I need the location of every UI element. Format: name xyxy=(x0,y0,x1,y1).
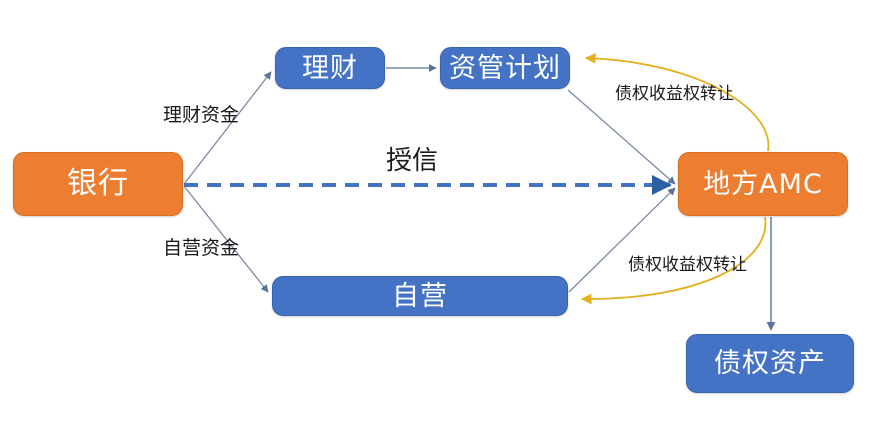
node-wealth-management-label: 理财 xyxy=(302,55,358,82)
edge-amp-to-amc xyxy=(568,90,675,184)
node-local-amc[interactable]: 地方AMC xyxy=(678,152,848,216)
flow-diagram: 银行 理财 资管计划 自营 地方AMC 债权资产 理财资金 自营资金 授信 债权… xyxy=(0,0,890,447)
node-asset-management-plan[interactable]: 资管计划 xyxy=(440,47,570,89)
node-bank[interactable]: 银行 xyxy=(13,152,183,216)
edge-label-wealth-funds: 理财资金 xyxy=(163,106,239,125)
edge-amc-to-amp-transfer xyxy=(586,58,768,151)
node-debt-asset-label: 债权资产 xyxy=(714,350,826,377)
node-proprietary-label: 自营 xyxy=(392,283,448,310)
edge-label-debt-income-right-transfer-top: 债权收益权转让 xyxy=(615,86,734,103)
edge-bank-to-wealth xyxy=(184,72,271,184)
node-proprietary[interactable]: 自营 xyxy=(272,276,568,316)
node-asset-management-plan-label: 资管计划 xyxy=(449,55,561,82)
edge-label-debt-income-right-transfer-bottom: 债权收益权转让 xyxy=(628,257,747,274)
node-bank-label: 银行 xyxy=(67,169,129,199)
node-wealth-management[interactable]: 理财 xyxy=(275,47,385,89)
edge-propri-to-amc xyxy=(569,188,675,292)
node-debt-asset[interactable]: 债权资产 xyxy=(686,334,854,393)
node-local-amc-label: 地方AMC xyxy=(703,171,823,198)
edge-label-proprietary-funds: 自营资金 xyxy=(163,239,239,258)
edge-label-credit-granting: 授信 xyxy=(386,148,438,174)
